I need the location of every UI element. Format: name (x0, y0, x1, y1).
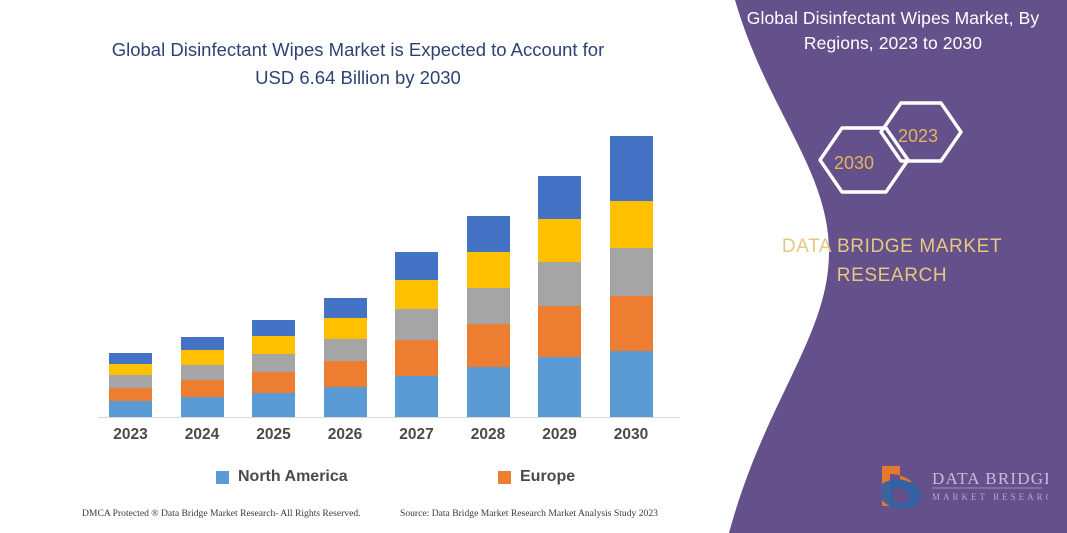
bar-segment-2029-europe (538, 306, 581, 357)
bar-2027 (395, 252, 438, 417)
bar-segment-2023-series-3 (109, 375, 152, 388)
bar-segment-2025-europe (252, 372, 295, 393)
bar-2030 (610, 136, 653, 417)
bar-segment-2029-north-america (538, 357, 581, 417)
bar-segment-2024-north-america (181, 397, 224, 417)
bar-segment-2024-europe (181, 380, 224, 397)
bar-segment-2026-series-5 (324, 298, 367, 318)
bar-segment-2030-series-5 (610, 136, 653, 201)
x-label-2024: 2024 (167, 426, 237, 444)
purple-shape (729, 0, 1067, 533)
bar-segment-2030-series-3 (610, 248, 653, 296)
x-label-2025: 2025 (239, 426, 309, 444)
bar-segment-2026-europe (324, 361, 367, 387)
stacked-bar-plot (98, 120, 680, 418)
legend-swatch-icon (498, 471, 511, 484)
bar-2028 (467, 216, 510, 417)
logo-wordmark-line2: MARKET RESEARCH (932, 492, 1048, 502)
bar-segment-2028-series-3 (467, 288, 510, 324)
x-label-2026: 2026 (310, 426, 380, 444)
bar-segment-2027-series-5 (395, 252, 438, 280)
legend-label: Europe (520, 468, 575, 486)
chart-title-line1: Global Disinfectant Wipes Market is Expe… (58, 36, 658, 64)
bar-2026 (324, 298, 367, 417)
bar-segment-2025-series-4 (252, 336, 295, 353)
bar-segment-2023-series-5 (109, 353, 152, 364)
chart-area: Global Disinfectant Wipes Market is Expe… (0, 0, 716, 533)
bar-segment-2029-series-5 (538, 176, 581, 219)
bar-segment-2025-series-5 (252, 320, 295, 336)
bar-segment-2028-north-america (467, 367, 510, 417)
x-label-2023: 2023 (96, 426, 166, 444)
data-bridge-logo: DATA BRIDGE MARKET RESEARCH (868, 460, 1048, 516)
bar-segment-2027-europe (395, 340, 438, 376)
bar-segment-2030-series-4 (610, 201, 653, 248)
bar-segment-2024-series-5 (181, 337, 224, 350)
bar-segment-2025-north-america (252, 393, 295, 417)
bar-segment-2023-europe (109, 388, 152, 402)
legend-item-europe[interactable]: Europe (498, 468, 575, 486)
x-label-2028: 2028 (453, 426, 523, 444)
data-bridge-b-mark (882, 466, 921, 508)
bar-segment-2027-series-3 (395, 309, 438, 340)
chart-legend: North AmericaEurope (98, 468, 658, 494)
bar-segment-2030-europe (610, 296, 653, 351)
bar-segment-2029-series-3 (538, 262, 581, 306)
logo-wordmark-line1: DATA BRIDGE (932, 469, 1048, 488)
bar-segment-2026-north-america (324, 387, 367, 417)
x-label-2029: 2029 (525, 426, 595, 444)
bar-segment-2026-series-3 (324, 339, 367, 361)
bar-segment-2025-series-3 (252, 354, 295, 372)
bar-segment-2027-series-4 (395, 280, 438, 309)
bar-2025 (252, 320, 295, 417)
bar-segment-2023-series-4 (109, 364, 152, 376)
x-label-2030: 2030 (596, 426, 666, 444)
bar-segment-2024-series-4 (181, 350, 224, 364)
bar-segment-2028-europe (467, 324, 510, 367)
chart-title: Global Disinfectant Wipes Market is Expe… (58, 36, 658, 92)
bar-segment-2030-north-america (610, 351, 653, 417)
footer-copyright: DMCA Protected ® Data Bridge Market Rese… (82, 508, 361, 519)
bar-2023 (109, 353, 152, 417)
chart-title-line2: USD 6.64 Billion by 2030 (58, 64, 658, 92)
x-axis-line (98, 417, 680, 418)
footer-source: Source: Data Bridge Market Research Mark… (400, 508, 658, 519)
legend-label: North America (238, 468, 348, 486)
bar-2024 (181, 337, 224, 417)
bar-segment-2029-series-4 (538, 219, 581, 262)
bar-segment-2024-series-3 (181, 365, 224, 380)
bar-segment-2028-series-5 (467, 216, 510, 252)
bar-segment-2023-north-america (109, 401, 152, 417)
x-axis-labels: 20232024202520262027202820292030 (98, 426, 680, 450)
footer: DMCA Protected ® Data Bridge Market Rese… (0, 508, 700, 528)
legend-swatch-icon (216, 471, 229, 484)
bar-segment-2026-series-4 (324, 318, 367, 339)
legend-item-north-america[interactable]: North America (216, 468, 348, 486)
bar-segment-2027-north-america (395, 376, 438, 417)
right-purple-panel (707, 0, 1067, 533)
x-label-2027: 2027 (382, 426, 452, 444)
bar-segment-2028-series-4 (467, 252, 510, 289)
bar-2029 (538, 176, 581, 417)
infographic-root: Global Disinfectant Wipes Market, By Reg… (0, 0, 1067, 533)
